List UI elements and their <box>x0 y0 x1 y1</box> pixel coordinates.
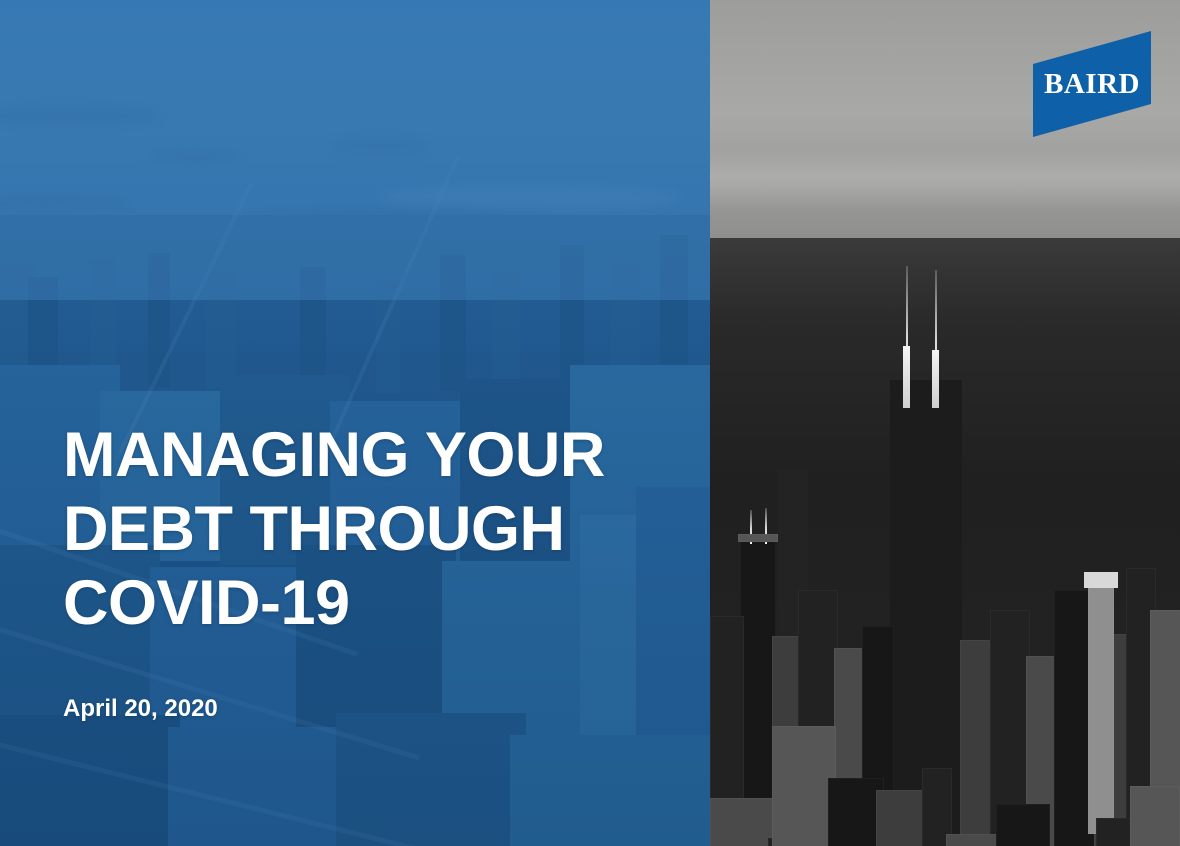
cloud-03 <box>150 152 240 162</box>
sky-haze-band <box>710 150 1180 210</box>
baird-logo-wordmark: BAIRD <box>1044 68 1140 100</box>
page-title-line-3: COVID-19 <box>63 566 703 640</box>
willis-antenna-base-right <box>932 350 939 408</box>
page-title-line-2: DEBT THROUGH <box>63 492 703 566</box>
willis-antenna-base-left <box>903 346 910 408</box>
blue-skyline-05 <box>206 273 236 389</box>
page-title-line-1: MANAGING YOUR <box>63 418 703 492</box>
blue-skyline-08 <box>440 255 466 391</box>
blue-skyline-09 <box>492 271 520 391</box>
blue-block-16 <box>510 735 710 846</box>
cloud-04 <box>330 140 430 152</box>
baird-logo[interactable]: BAIRD <box>1033 31 1151 137</box>
building-lit-tower <box>1088 584 1114 834</box>
building-fg-11 <box>1130 786 1180 846</box>
building-lit-crown <box>1084 572 1118 588</box>
presentation-date: April 20, 2020 <box>63 640 703 724</box>
title-block: MANAGING YOUR DEBT THROUGH COVID-19 Apri… <box>63 418 703 724</box>
building-fg-08 <box>996 804 1050 846</box>
blue-block-15 <box>336 713 526 846</box>
building-fg-03 <box>772 726 836 846</box>
cityscape-grayscale <box>710 238 1180 846</box>
blue-skyline-06 <box>300 267 326 391</box>
blue-block-14 <box>168 727 348 846</box>
cloud-06 <box>380 186 680 210</box>
hancock-crown <box>738 534 778 542</box>
title-slide: MANAGING YOUR DEBT THROUGH COVID-19 Apri… <box>0 0 1180 846</box>
